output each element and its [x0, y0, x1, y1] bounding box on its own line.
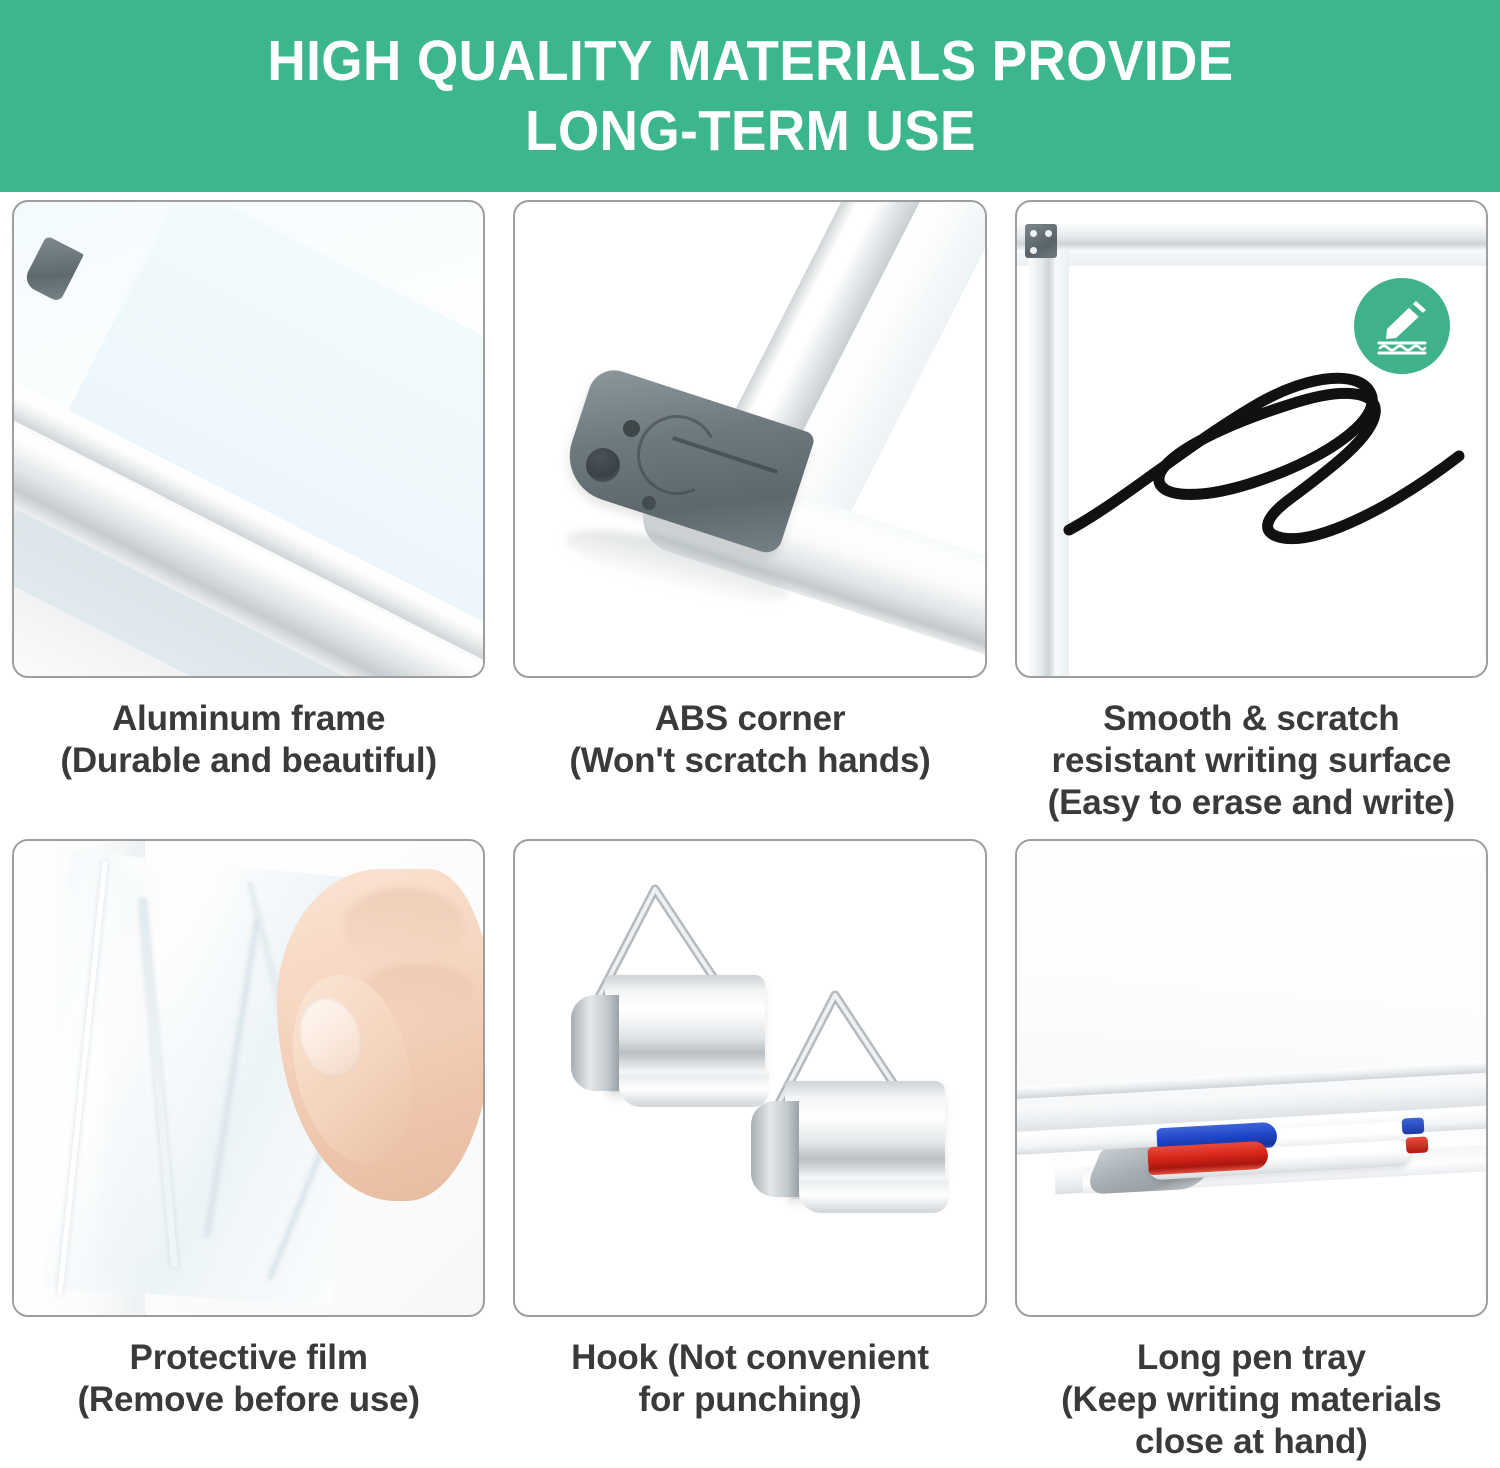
feature-caption-hook: Hook (Not convenient for punching): [571, 1337, 929, 1421]
hook-clamp-tail-shape: [799, 1181, 949, 1213]
feature-caption-aluminum-frame: Aluminum frame (Durable and beautiful): [60, 698, 437, 782]
feature-grid: Aluminum frame (Durable and beautiful) A…: [0, 192, 1500, 1468]
pen-on-smooth-surface-icon: [1369, 293, 1435, 359]
banner-title: HIGH QUALITY MATERIALS PROVIDE LONG-TERM…: [267, 26, 1233, 166]
feature-image-hook: [513, 839, 986, 1317]
feature-image-writing-surface: [1015, 200, 1488, 678]
board-frame-top-inner-shape: [1017, 250, 1486, 266]
feature-caption-protective-film: Protective film (Remove before use): [77, 1337, 419, 1421]
feature-card-hook: Hook (Not convenient for punching): [513, 839, 986, 1468]
marker-scribble-drawing: [1061, 352, 1481, 572]
feature-image-abs-corner: [513, 200, 986, 678]
feature-caption-abs-corner: ABS corner (Won't scratch hands): [569, 698, 930, 782]
frame-corner-bracket-shape: [22, 235, 84, 302]
feature-image-protective-film: [12, 839, 485, 1317]
hook-clamp-tail-shape: [619, 1075, 769, 1107]
hook-clamp-lip-shape: [571, 995, 619, 1091]
feature-caption-pen-tray: Long pen tray (Keep writing materials cl…: [1061, 1337, 1442, 1463]
marker-red-clip: [1406, 1137, 1429, 1154]
feature-card-pen-tray: Long pen tray (Keep writing materials cl…: [1015, 839, 1488, 1468]
board-corner-bracket-shape: [1025, 224, 1057, 258]
feature-image-aluminum-frame: [12, 200, 485, 678]
header-banner: HIGH QUALITY MATERIALS PROVIDE LONG-TERM…: [0, 0, 1500, 192]
feature-card-protective-film: Protective film (Remove before use): [12, 839, 485, 1468]
feature-card-writing-surface: Smooth & scratch resistant writing surfa…: [1015, 200, 1488, 829]
hand-knuckle-shape: [343, 888, 465, 964]
feature-card-aluminum-frame: Aluminum frame (Durable and beautiful): [12, 200, 485, 829]
hook-clamp-lip-shape: [751, 1101, 799, 1197]
bracket-hole-icon: [1030, 247, 1037, 254]
feature-card-abs-corner: ABS corner (Won't scratch hands): [513, 200, 986, 829]
board-frame-left-shape: [1029, 250, 1055, 678]
bracket-hole-icon: [1045, 230, 1052, 237]
board-frame-top-shape: [1017, 224, 1486, 250]
feature-caption-writing-surface: Smooth & scratch resistant writing surfa…: [1048, 698, 1455, 824]
feature-image-pen-tray: [1015, 839, 1488, 1317]
bracket-hole-icon: [1030, 230, 1037, 237]
marker-blue-clip: [1401, 1118, 1424, 1135]
